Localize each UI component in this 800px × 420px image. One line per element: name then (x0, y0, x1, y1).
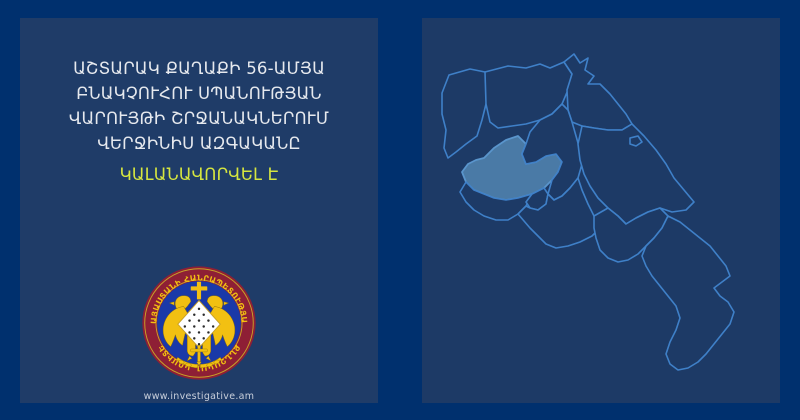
headline-accent-line: ԿԱԼԱՆԱՎՈՐՎԵԼ Է (34, 162, 364, 187)
headline-line-1: ԱՇՏԱՐԱԿ ՔԱՂԱՔԻ 56-ԱՄՅԱ (34, 56, 364, 81)
headline-block: ԱՇՏԱՐԱԿ ՔԱՂԱՔԻ 56-ԱՄՅԱ ԲՆԱԿՉՈՒՀՈՒ ՍՊԱՆՈՒ… (34, 56, 364, 187)
headline-line-2: ԲՆԱԿՉՈՒՀՈՒ ՍՊԱՆՈՒԹՅԱՆ (34, 81, 364, 106)
emblem-icon: ՀԱՅԱՍՏԱՆԻ ՀԱՆՐԱՊԵՏՈՒԹՅԱՆ ՔՆՆՉԱԿԱՆ ԿՈՄԻՏԵ (140, 264, 258, 382)
armenia-map-icon (422, 18, 780, 403)
emblem: ՀԱՅԱՍՏԱՆԻ ՀԱՆՐԱՊԵՏՈՒԹՅԱՆ ՔՆՆՉԱԿԱՆ ԿՈՄԻՏԵ (140, 264, 258, 382)
website-url: www.investigative.am (20, 391, 378, 402)
map-region-tavush (564, 54, 632, 130)
headline-line-3: ՎԱՐՈՒՅԹԻ ՇՐՋԱՆԱԿՆԵՐՈՒՄ (34, 106, 364, 131)
headline-line-4: ՎԵՐՋԻՆԻՍ ԱԶԳԱԿԱՆԸ (34, 131, 364, 156)
map-region-shirak (442, 69, 490, 158)
map-card (422, 18, 780, 403)
poster-canvas: ԱՇՏԱՐԱԿ ՔԱՂԱՔԻ 56-ԱՄՅԱ ԲՆԱԿՉՈՒՀՈՒ ՍՊԱՆՈՒ… (0, 0, 800, 420)
map-region-syunik (642, 216, 734, 370)
announcement-card: ԱՇՏԱՐԱԿ ՔԱՂԱՔԻ 56-ԱՄՅԱ ԲՆԱԿՉՈՒՀՈՒ ՍՊԱՆՈՒ… (20, 18, 378, 403)
